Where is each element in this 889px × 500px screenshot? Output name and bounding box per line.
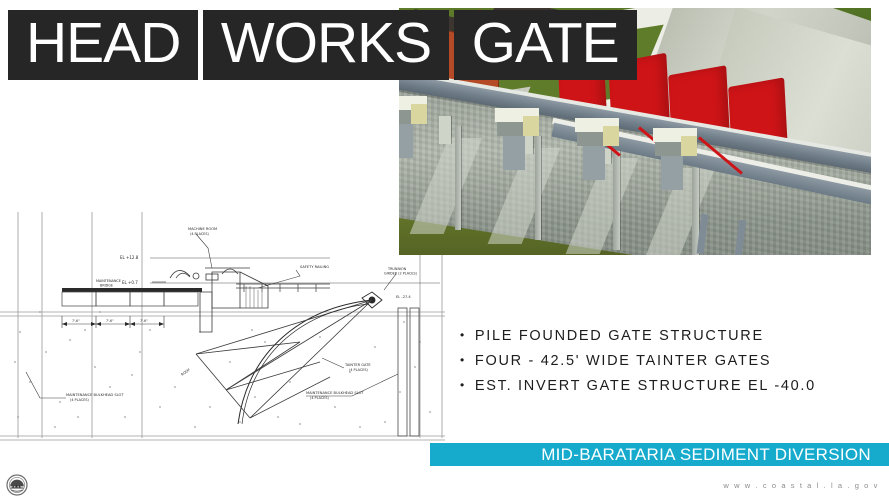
presentation-slide: MACHINE ROOM (4 PLACES) EL +12.8 EL +0.7… — [0, 0, 889, 500]
bullet-text-3: EST. INVERT GATE STRUCTURE EL -40.0 — [475, 378, 816, 394]
svg-text:MAINTENANCE BULKHEAD SLOT: MAINTENANCE BULKHEAD SLOT — [66, 393, 124, 397]
svg-text:(4 PLACES): (4 PLACES) — [70, 398, 89, 402]
render-pier-1 — [455, 126, 461, 230]
svg-text:GIRDER (2 PLACES): GIRDER (2 PLACES) — [384, 272, 418, 276]
svg-text:BRIDGE: BRIDGE — [100, 284, 113, 288]
headworks-gate-section-drawing: MACHINE ROOM (4 PLACES) EL +12.8 EL +0.7… — [0, 212, 445, 442]
render-pier-2 — [535, 136, 541, 240]
render-pier-3 — [613, 146, 620, 250]
svg-text:7'-6": 7'-6" — [72, 319, 80, 323]
title-line-1: HEAD — [8, 10, 198, 80]
svg-text:SAFETY RAILING: SAFETY RAILING — [300, 265, 329, 269]
title-line-2: WORKS — [203, 10, 449, 80]
bullet-marker-icon: • — [460, 378, 466, 393]
svg-text:MAINTENANCE BULKHEAD SLOT: MAINTENANCE BULKHEAD SLOT — [306, 391, 364, 395]
bullet-item-3: • EST. INVERT GATE STRUCTURE EL -40.0 — [460, 378, 880, 394]
svg-text:EL +0.7: EL +0.7 — [122, 280, 138, 285]
bullet-item-1: • PILE FOUNDED GATE STRUCTURE — [460, 328, 880, 344]
svg-text:(4 PLACES): (4 PLACES) — [349, 368, 368, 372]
title-line-3: GATE — [454, 10, 637, 80]
svg-text:TRUNNION: TRUNNION — [387, 267, 407, 271]
svg-text:7'-6": 7'-6" — [106, 319, 114, 323]
svg-text:MACHINE ROOM: MACHINE ROOM — [188, 227, 217, 231]
render-pier-cap-1 — [439, 116, 451, 144]
bullet-marker-icon: • — [460, 353, 466, 368]
bullet-text-1: PILE FOUNDED GATE STRUCTURE — [475, 328, 764, 344]
svg-text:(4 PLACES): (4 PLACES) — [310, 396, 329, 400]
bullet-item-2: • FOUR - 42.5' WIDE TAINTER GATES — [460, 353, 880, 369]
project-name-label: MID-BARATARIA SEDIMENT DIVERSION — [430, 443, 879, 466]
svg-text:(4 PLACES): (4 PLACES) — [190, 232, 209, 236]
svg-text:EL -27.4: EL -27.4 — [396, 295, 411, 299]
bullet-list: • PILE FOUNDED GATE STRUCTURE • FOUR - 4… — [460, 328, 880, 403]
svg-text:MAINTENANCE: MAINTENANCE — [96, 279, 121, 283]
svg-text:7'-6": 7'-6" — [140, 319, 148, 323]
bullet-text-2: FOUR - 42.5' WIDE TAINTER GATES — [475, 353, 771, 369]
footer-band: MID-BARATARIA SEDIMENT DIVERSION — [430, 443, 889, 466]
svg-text:EL +12.8: EL +12.8 — [120, 255, 139, 260]
slide-title: HEAD WORKS GATE — [8, 10, 637, 82]
svg-text:TAINTER GATE: TAINTER GATE — [344, 363, 371, 367]
cpra-seal-logo — [6, 474, 28, 496]
footer-url: w w w . c o a s t a l . l a . g o v — [723, 481, 879, 490]
bullet-marker-icon: • — [460, 328, 466, 343]
